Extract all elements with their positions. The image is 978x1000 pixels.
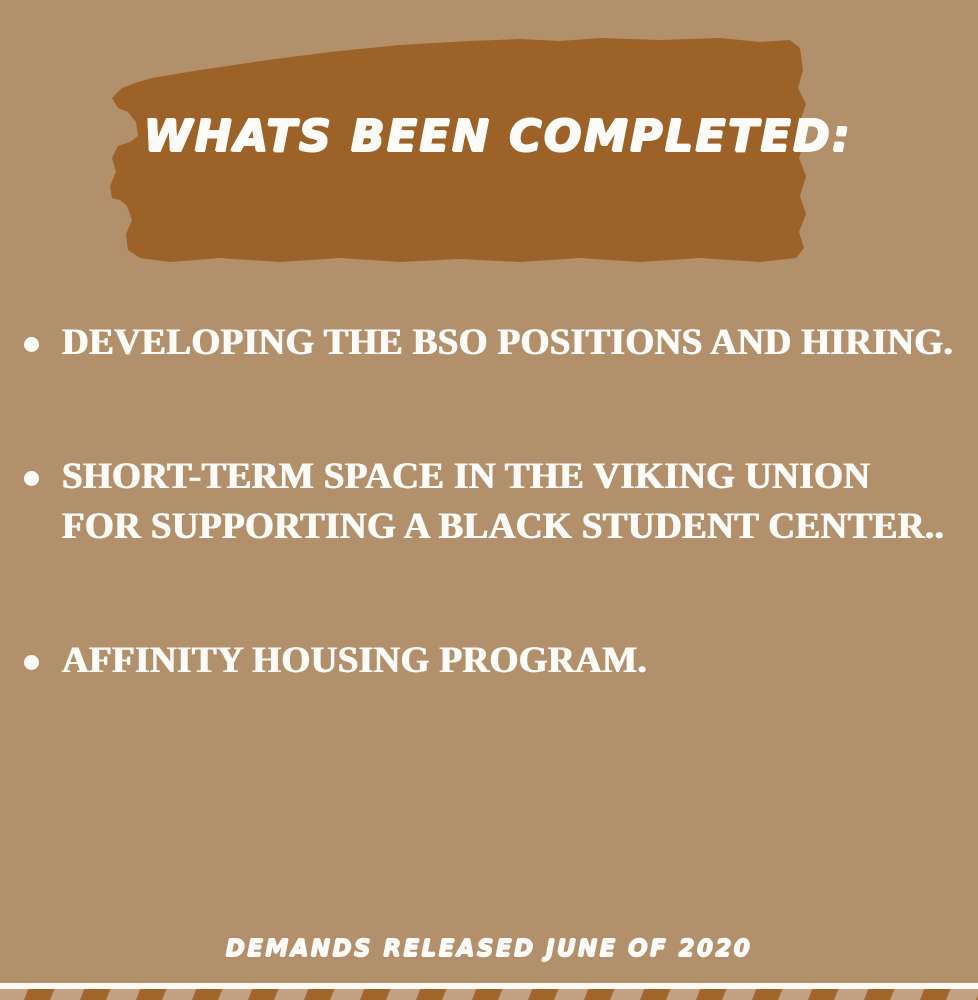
stripe-segment <box>21 989 57 1000</box>
list-item-label: Developing the BSO positions and hiring. <box>62 318 958 368</box>
list-item: Affinity Housing program. <box>0 636 978 686</box>
footer-caption: DEMANDS RELEASED JUNE OF 2020 <box>0 934 978 964</box>
stripe-segment <box>581 989 617 1000</box>
stripe-segment <box>693 989 729 1000</box>
stripe-segment <box>189 989 225 1000</box>
list-item: Short-term space in the Viking Union for… <box>0 452 978 552</box>
stripe-segment <box>749 989 785 1000</box>
stripe-segment <box>637 989 673 1000</box>
stripe-segment <box>77 989 113 1000</box>
list-item-label: Short-term space in the Viking Union for… <box>62 452 958 552</box>
completed-items-list: Developing the BSO positions and hiring.… <box>0 318 978 686</box>
stripe-segment <box>357 989 393 1000</box>
bullet-dot-icon <box>24 471 39 486</box>
stripe-segment <box>245 989 281 1000</box>
stripe-segment <box>525 989 561 1000</box>
list-item: Developing the BSO positions and hiring. <box>0 318 978 368</box>
stripe-segment <box>861 989 897 1000</box>
title-banner: WHATS BEEN COMPLETED: <box>0 0 978 300</box>
stripe-segment <box>133 989 169 1000</box>
list-item-label: Affinity Housing program. <box>62 636 958 686</box>
stripe-segment <box>0 989 1 1000</box>
stripe-segment <box>469 989 505 1000</box>
stripe-segment <box>301 989 337 1000</box>
stripe-segment <box>805 989 841 1000</box>
stripe-segment <box>973 989 978 1000</box>
bottom-stripe-pattern <box>0 989 978 1000</box>
bullet-dot-icon <box>24 655 39 670</box>
slide-canvas: WHATS BEEN COMPLETED: Developing the BSO… <box>0 0 978 1000</box>
page-title: WHATS BEEN COMPLETED: <box>0 108 978 166</box>
stripe-segment <box>413 989 449 1000</box>
stripe-segment <box>917 989 953 1000</box>
bullet-dot-icon <box>24 337 39 352</box>
